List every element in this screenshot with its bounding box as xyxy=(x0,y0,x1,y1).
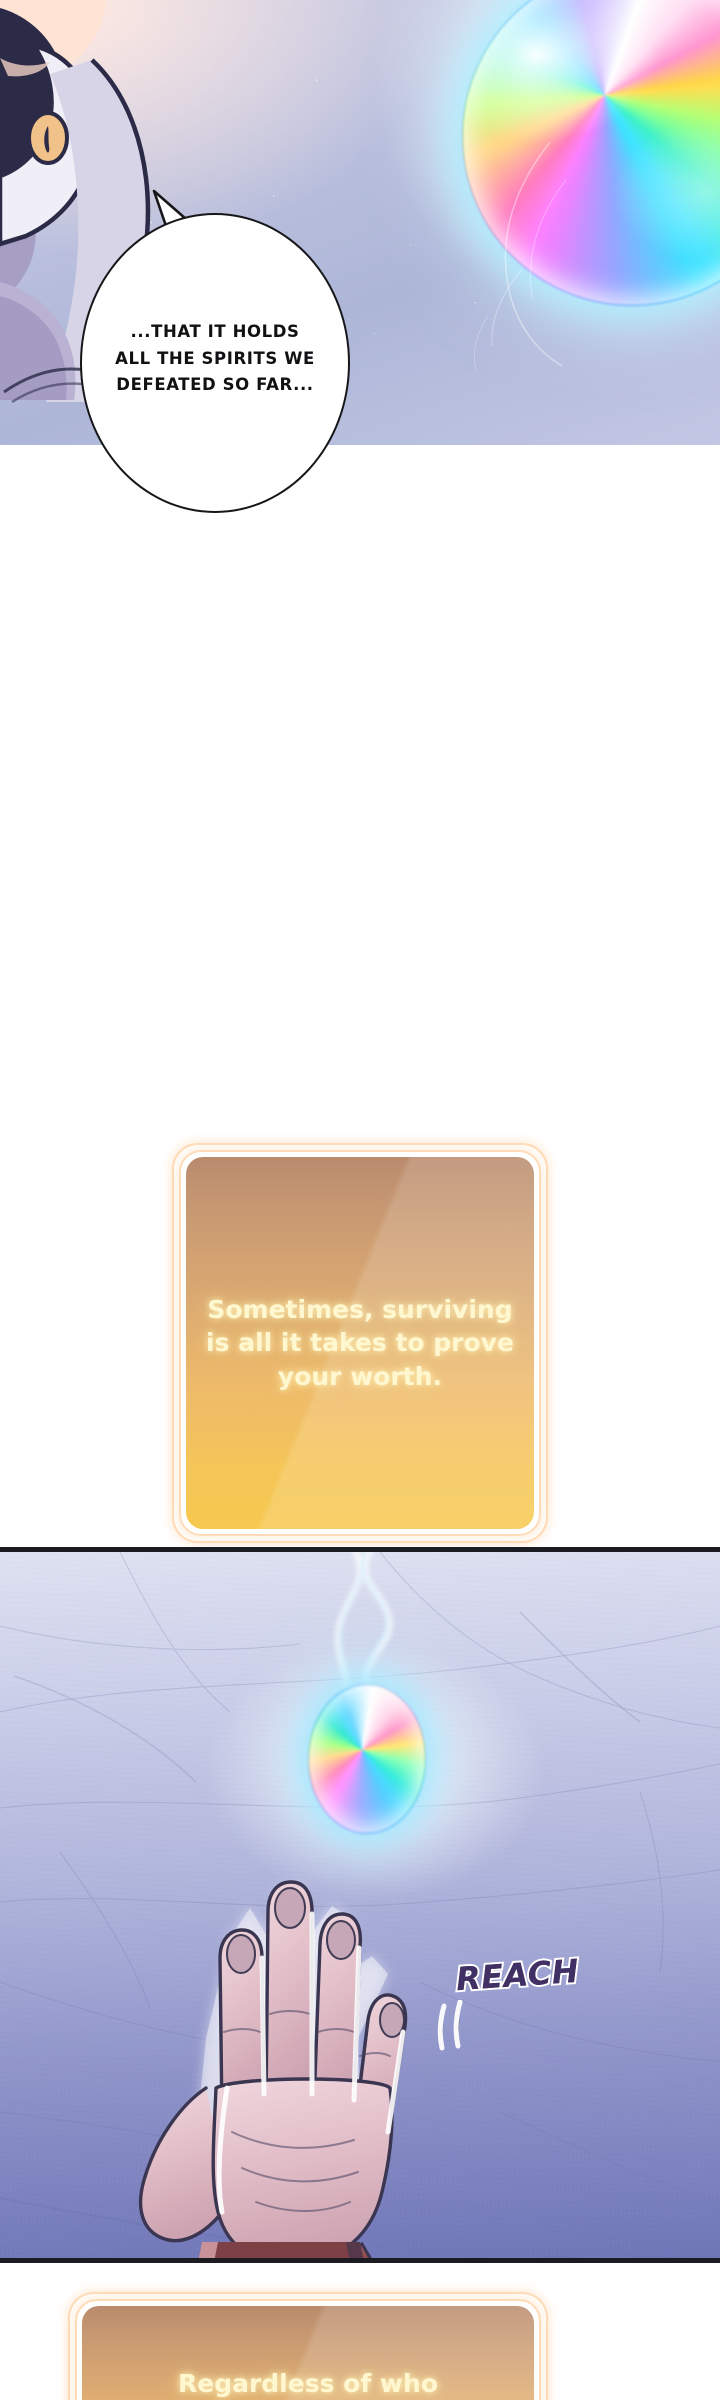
narration-box-inner: Sometimes, surviving is all it takes to … xyxy=(186,1157,534,1529)
speech-bubble-body: ...THAT IT HOLDS ALL THE SPIRITS WE DEFE… xyxy=(80,213,350,513)
rising-energy-smoke xyxy=(300,1547,440,1706)
webtoon-page: ...THAT IT HOLDS ALL THE SPIRITS WE DEFE… xyxy=(0,0,720,2400)
speech-line-3: DEFEATED SO FAR... xyxy=(115,372,315,399)
narration-box-bottom: Regardless of who xyxy=(68,2292,548,2400)
narration-line-1: Sometimes, surviving xyxy=(206,1293,514,1327)
speech-line-2: ALL THE SPIRITS WE xyxy=(115,346,315,373)
narration-line-2: is all it takes to prove xyxy=(206,1326,514,1360)
open-hand-illustration xyxy=(110,1788,440,2263)
speech-line-1: ...THAT IT HOLDS xyxy=(115,319,315,346)
sleeve-extension xyxy=(196,2242,366,2263)
motion-dashes-decoration xyxy=(434,2000,470,2052)
narration-text-bottom: Regardless of who xyxy=(178,2367,438,2400)
narration-box-middle: Sometimes, surviving is all it takes to … xyxy=(172,1143,548,1543)
narration-text-middle: Sometimes, surviving is all it takes to … xyxy=(206,1293,514,1394)
speech-bubble: ...THAT IT HOLDS ALL THE SPIRITS WE DEFE… xyxy=(80,213,358,543)
narration-bottom-line-1: Regardless of who xyxy=(178,2369,438,2398)
panel-2-hand-reaching xyxy=(0,1547,720,2263)
iridescent-spirit-orb-icon xyxy=(462,0,720,306)
narration-line-3: your worth. xyxy=(206,1360,514,1394)
narration-bottom-inner: Regardless of who xyxy=(82,2306,534,2400)
speech-bubble-text: ...THAT IT HOLDS ALL THE SPIRITS WE DEFE… xyxy=(115,319,315,399)
